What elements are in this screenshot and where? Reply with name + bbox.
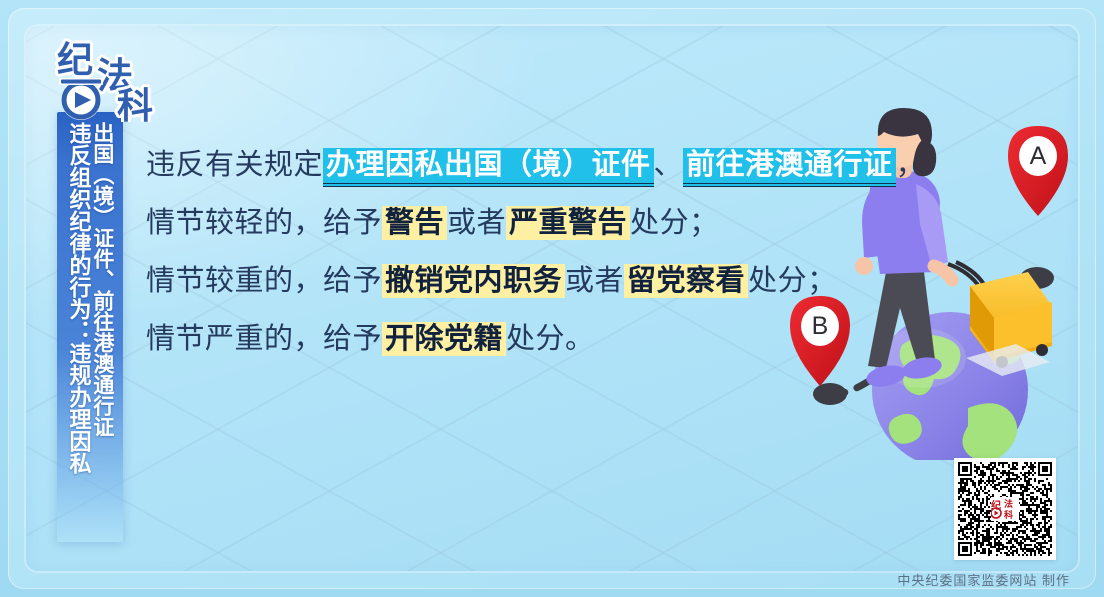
banner-column-left: 违反组织纪律的行为：违规办理因私 bbox=[67, 122, 89, 522]
footer-credit: 中央纪委国家监委网站 制作 bbox=[897, 570, 1070, 589]
brand-logo: 纪 纪 法 法 科 科 bbox=[55, 38, 165, 122]
logo-char-ji-fill: 纪 bbox=[57, 40, 93, 80]
text-line-3: 情节较重的，给予撤销党内职务或者留党察看处分； bbox=[146, 252, 846, 310]
text-segment-plain-0: 情节较重的，给予 bbox=[146, 265, 382, 297]
qr-code[interactable]: 纪 法 科 bbox=[954, 458, 1056, 560]
qr-center-logo: 纪 法 科 bbox=[991, 497, 1019, 521]
svg-text:法: 法 bbox=[1004, 498, 1013, 509]
text-segment-yellow-1: 警告 bbox=[382, 206, 447, 240]
banner-column-right: 出国（境）证件、前往港澳通行证 bbox=[92, 122, 113, 522]
text-segment-plain-0: 违反有关规定 bbox=[146, 149, 323, 181]
text-segment-cyan-1: 办理因私出国（境）证件 bbox=[323, 148, 654, 187]
text-segment-plain-0: 情节较轻的，给予 bbox=[146, 207, 382, 239]
text-segment-yellow-3: 严重警告 bbox=[506, 206, 630, 240]
logo-char-ke-fill: 科 bbox=[117, 86, 153, 122]
logo-bar bbox=[61, 80, 101, 84]
text-segment-plain-4: 处分； bbox=[748, 265, 837, 297]
play-circle-icon bbox=[61, 80, 101, 120]
text-line-4: 情节严重的，给予开除党籍处分。 bbox=[146, 310, 846, 368]
text-line-2: 情节较轻的，给予警告或者严重警告处分； bbox=[146, 194, 846, 252]
text-segment-plain-2: 处分。 bbox=[506, 323, 595, 355]
text-segment-plain-4: 处分； bbox=[630, 207, 719, 239]
main-text-block: 违反有关规定办理因私出国（境）证件、前往港澳通行证， 情节较轻的，给予警告或者严… bbox=[146, 136, 846, 368]
text-segment-plain-2: 或者 bbox=[565, 265, 624, 297]
poster-canvas: 纪 纪 法 法 科 科 出国（境）证件、前往港澳通行证 bbox=[0, 0, 1104, 597]
text-segment-plain-0: 情节严重的，给予 bbox=[146, 323, 382, 355]
svg-text:科: 科 bbox=[1004, 509, 1013, 520]
text-segment-yellow-3: 留党察看 bbox=[624, 264, 748, 298]
vertical-title-banner: 出国（境）证件、前往港澳通行证 违反组织纪律的行为：违规办理因私 bbox=[57, 112, 123, 542]
text-segment-plain-4: ， bbox=[896, 149, 926, 181]
map-pin-a-label: A bbox=[1030, 142, 1047, 170]
text-segment-plain-2: 、 bbox=[654, 149, 684, 181]
map-pin-a: A bbox=[1008, 126, 1068, 216]
text-segment-plain-2: 或者 bbox=[447, 207, 506, 239]
text-segment-cyan-3: 前往港澳通行证 bbox=[683, 148, 896, 187]
text-segment-yellow-1: 撤销党内职务 bbox=[382, 264, 565, 298]
text-segment-yellow-1: 开除党籍 bbox=[382, 322, 506, 356]
text-line-1: 违反有关规定办理因私出国（境）证件、前往港澳通行证， bbox=[146, 136, 846, 194]
